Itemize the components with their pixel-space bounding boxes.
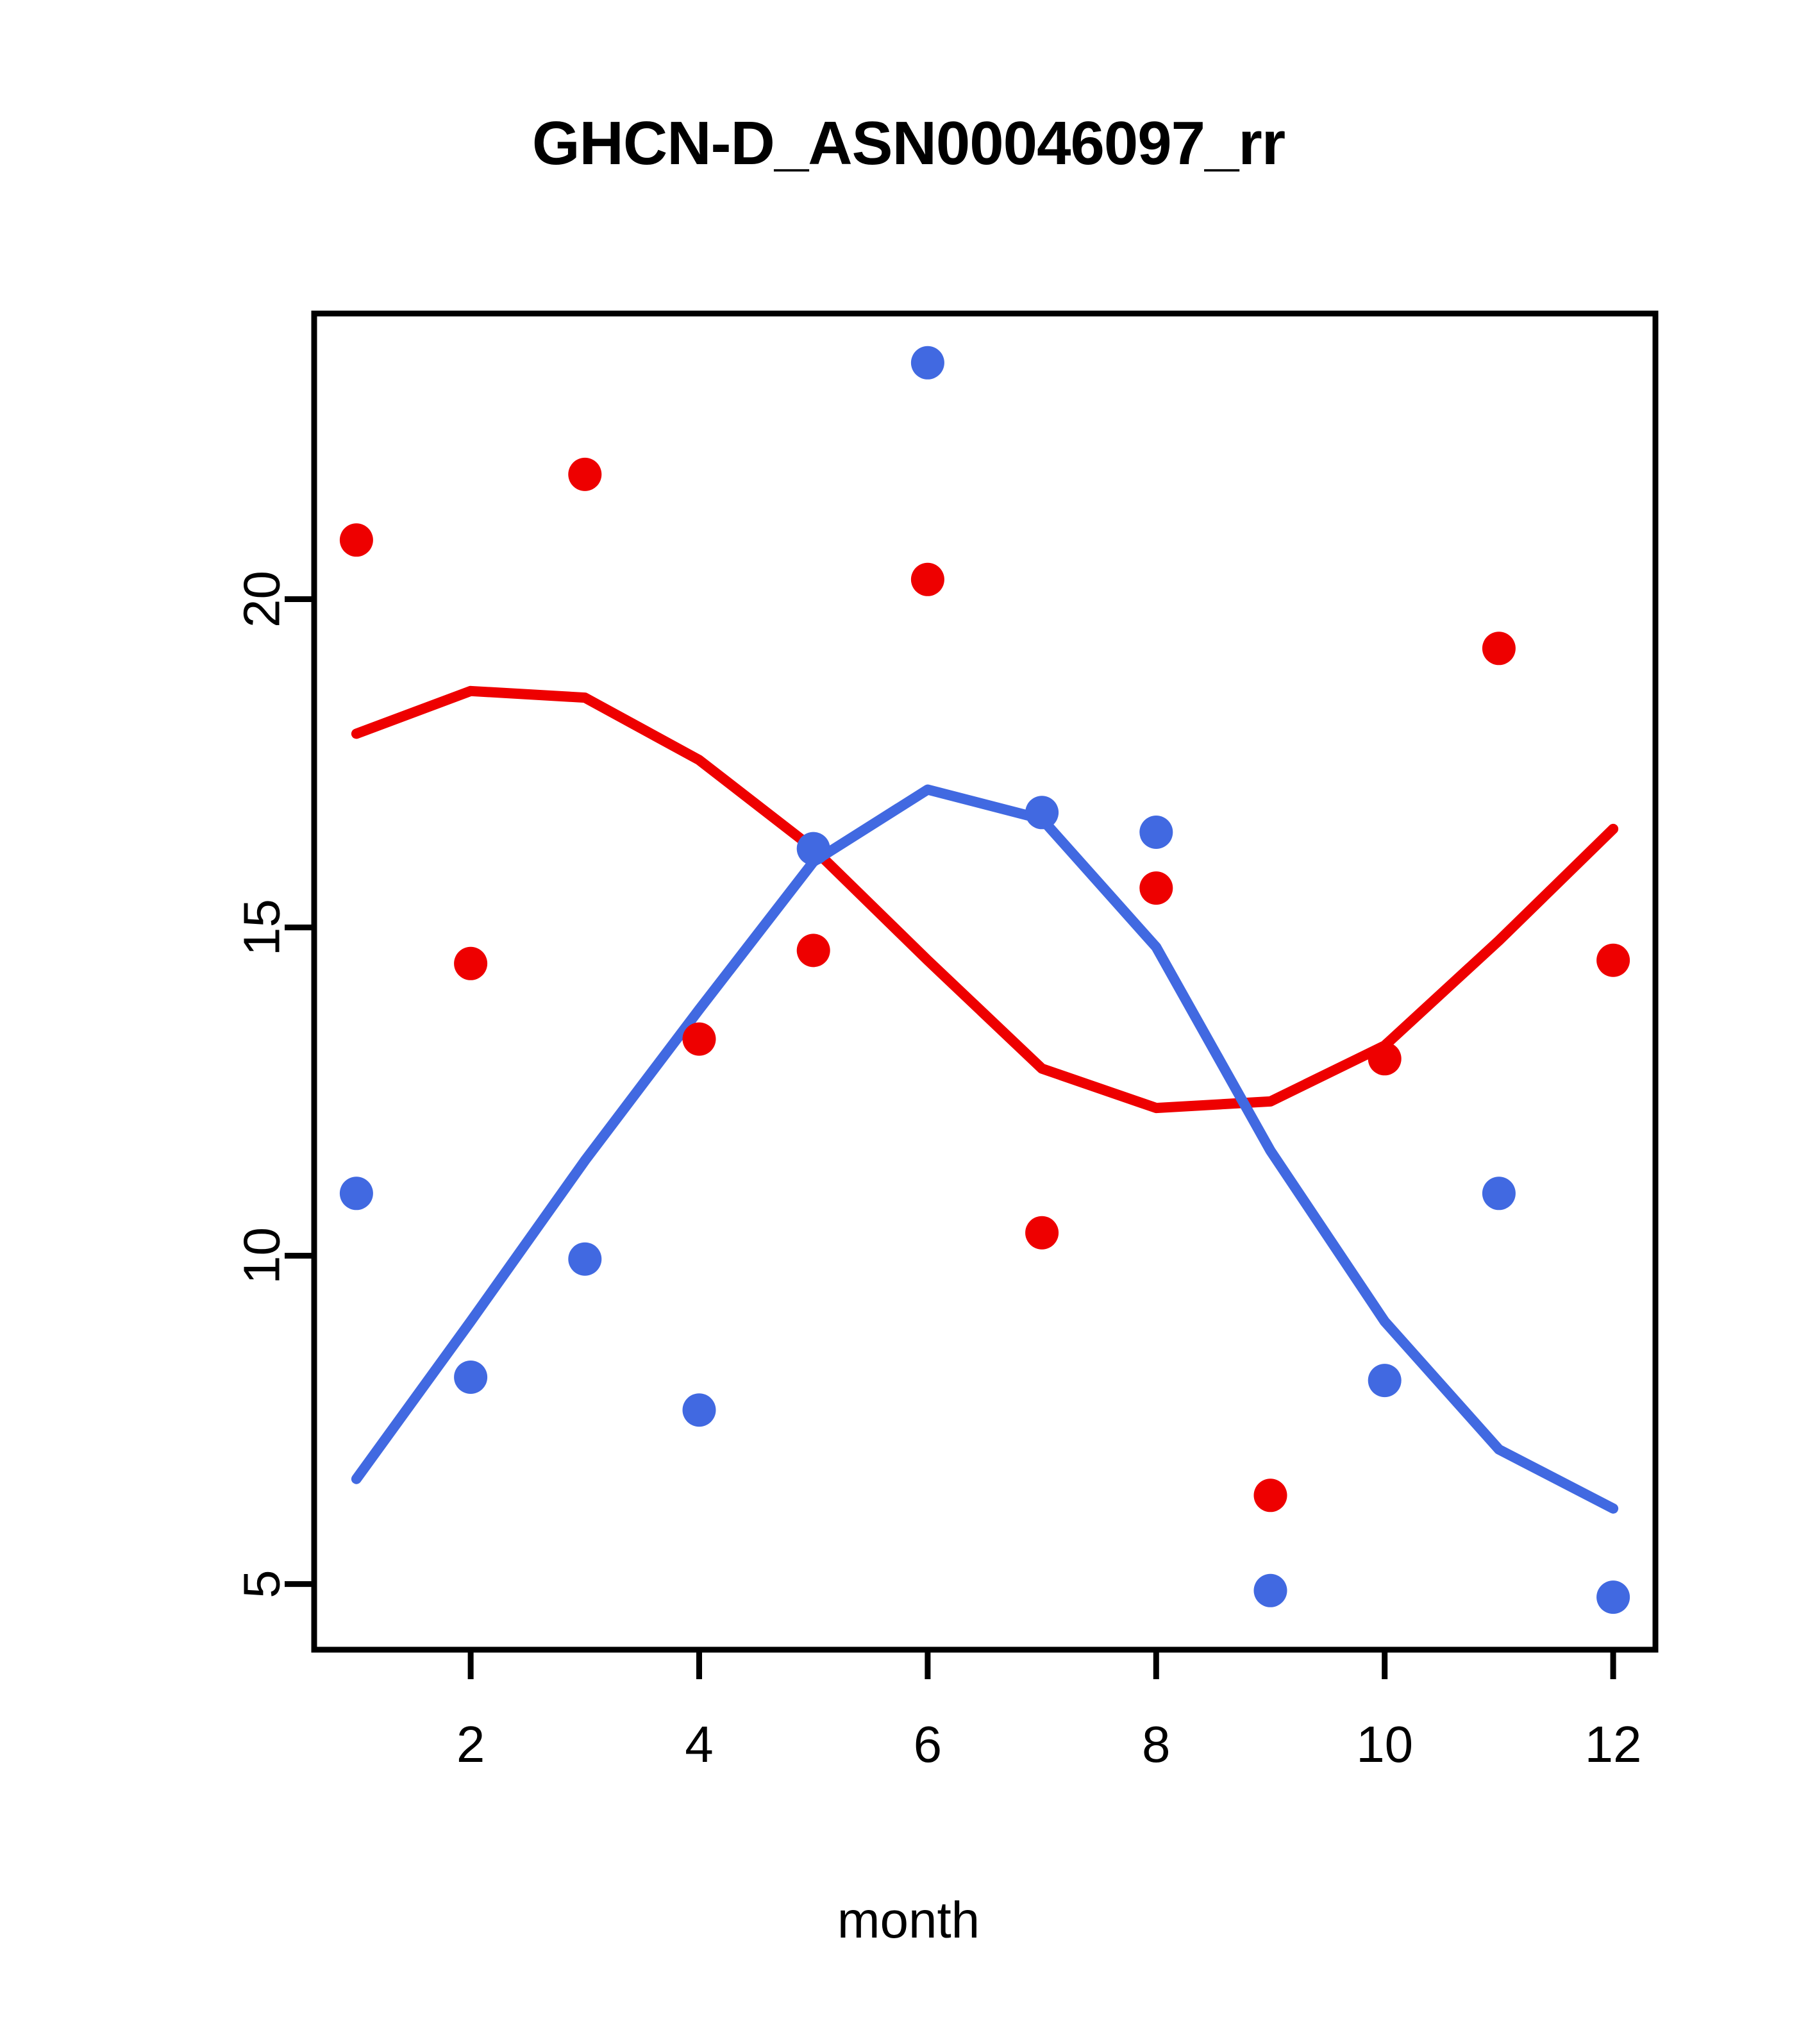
x-tick-label: 10 — [1356, 1716, 1413, 1773]
blue-trend-line — [356, 790, 1613, 1509]
blue-line — [356, 790, 1613, 1509]
x-tick-label: 2 — [456, 1716, 485, 1773]
x-axis-ticks — [471, 1650, 1613, 1679]
data-point — [797, 832, 830, 866]
blue-data-points — [340, 346, 1630, 1614]
data-point — [1025, 1216, 1059, 1250]
red-line — [356, 691, 1613, 1108]
x-tick-label: 4 — [685, 1716, 714, 1773]
data-point — [1254, 1479, 1287, 1512]
data-point — [1482, 1177, 1516, 1210]
y-tick-label: 10 — [233, 1227, 290, 1284]
x-tick-label: 8 — [1142, 1716, 1171, 1773]
data-point — [683, 1393, 716, 1427]
data-point — [340, 523, 373, 557]
data-point — [1254, 1574, 1287, 1607]
data-point — [911, 346, 944, 380]
data-point — [1139, 871, 1173, 905]
y-axis-tick-labels: 5101520 — [233, 571, 290, 1598]
data-point — [1025, 796, 1059, 829]
data-point — [454, 947, 487, 980]
y-axis-ticks — [285, 599, 314, 1584]
y-tick-label: 20 — [233, 571, 290, 628]
data-point — [1139, 816, 1173, 849]
data-point — [454, 1361, 487, 1394]
data-point — [911, 563, 944, 596]
red-trend-line — [356, 691, 1613, 1108]
data-point — [568, 1243, 601, 1276]
data-point — [1368, 1364, 1402, 1397]
x-tick-label: 6 — [914, 1716, 942, 1773]
x-axis-tick-labels: 24681012 — [456, 1716, 1642, 1773]
data-point — [1482, 632, 1516, 665]
red-data-points — [340, 458, 1630, 1512]
data-point — [340, 1177, 373, 1210]
data-point — [568, 458, 601, 491]
data-point — [1596, 944, 1630, 977]
x-axis-label: month — [0, 1895, 1817, 1946]
data-point — [1368, 1042, 1402, 1075]
data-point — [797, 934, 830, 967]
data-point — [1596, 1580, 1630, 1614]
x-tick-label: 12 — [1585, 1716, 1642, 1773]
chart-canvas: 5101520 24681012 — [0, 0, 1817, 2044]
y-tick-label: 15 — [233, 899, 290, 956]
data-point — [683, 1023, 716, 1056]
plot-figure: GHCN-D_ASN00046097_rr 5101520 24681012 m… — [0, 0, 1817, 2044]
y-tick-label: 5 — [233, 1570, 290, 1598]
